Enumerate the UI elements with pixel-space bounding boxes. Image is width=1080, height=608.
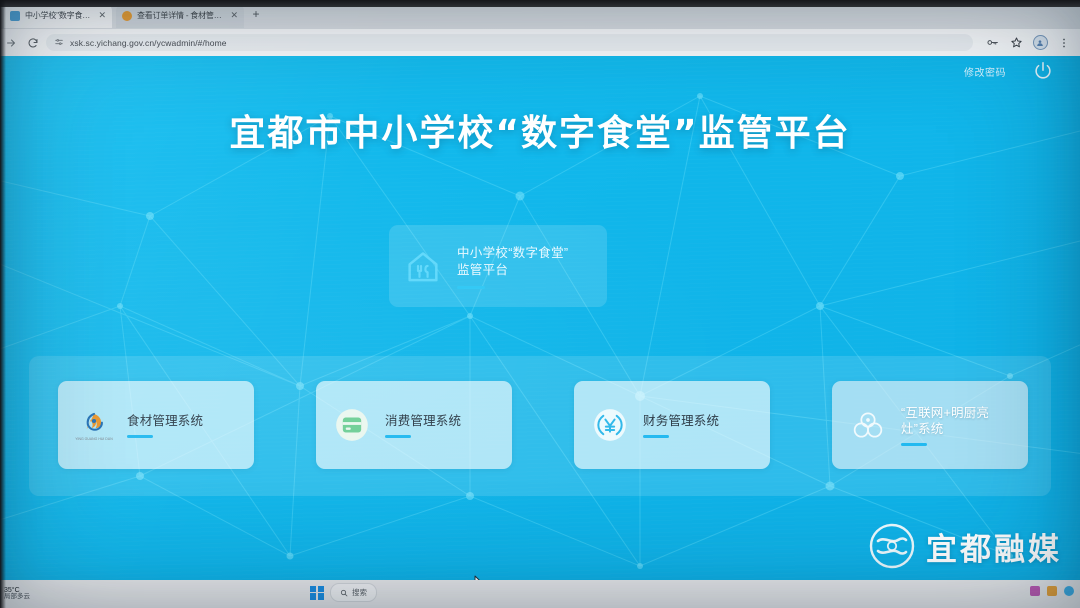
system-card-bright-kitchen[interactable]: “互联网+明厨亮灶”系统 bbox=[832, 381, 1028, 469]
page-topbar: 修改密码 bbox=[964, 60, 1054, 82]
system-card-consumption[interactable]: 消费管理系统 bbox=[316, 381, 512, 469]
power-icon[interactable] bbox=[1032, 60, 1054, 82]
main-platform-card[interactable]: 中小学校“数字食堂” 监管平台 bbox=[389, 225, 607, 307]
taskbar-center-group: 搜索 bbox=[310, 583, 377, 602]
svg-text:YING GUANG HUI DUN: YING GUANG HUI DUN bbox=[75, 437, 113, 441]
photographed-monitor: 中小学校"数字食堂"监管平台 ✕ 查看订单详情 - 食材管理系统 ✕ + xs bbox=[0, 0, 1080, 608]
site-settings-tune-icon[interactable] bbox=[54, 34, 64, 52]
ingredient-logo-icon: YING GUANG HUI DUN bbox=[74, 405, 114, 445]
windows-logo-icon[interactable] bbox=[310, 586, 324, 600]
system-card-text: 食材管理系统 bbox=[127, 412, 203, 438]
search-icon bbox=[340, 589, 348, 597]
address-bar-url: xsk.sc.yichang.gov.cn/ycwadmin/#/home bbox=[70, 38, 227, 48]
tab-favicon-orange-dot-icon bbox=[122, 11, 132, 21]
system-card-text: “互联网+明厨亮灶”系统 bbox=[901, 404, 1005, 446]
reload-icon[interactable] bbox=[22, 32, 44, 54]
key-icon[interactable] bbox=[981, 32, 1003, 54]
monitor-bezel-left bbox=[0, 0, 6, 608]
credit-card-icon bbox=[332, 405, 372, 445]
star-icon[interactable] bbox=[1005, 32, 1027, 54]
tab-close-icon[interactable]: ✕ bbox=[98, 11, 106, 20]
new-tab-button[interactable]: + bbox=[248, 6, 264, 22]
system-card-text: 财务管理系统 bbox=[643, 412, 719, 438]
taskbar-search-placeholder: 搜索 bbox=[352, 587, 367, 598]
three-dots-icon[interactable] bbox=[1053, 32, 1075, 54]
system-card-ingredient[interactable]: YING GUANG HUI DUN 食材管理系统 bbox=[58, 381, 254, 469]
watermark-text: 宜都融媒 bbox=[926, 524, 1062, 569]
system-card-accent-rule bbox=[385, 435, 411, 438]
page-title: 宜都市中小学校“数字食堂”监管平台 bbox=[0, 104, 1080, 156]
main-card-line1: 中小学校“数字食堂” bbox=[457, 245, 568, 262]
house-utensils-icon bbox=[403, 246, 443, 286]
yidu-media-emblem-icon bbox=[868, 522, 916, 570]
tab-favicon-shield-icon bbox=[10, 11, 20, 21]
system-card-finance[interactable]: 财务管理系统 bbox=[574, 381, 770, 469]
system-card-label: “互联网+明厨亮灶”系统 bbox=[901, 405, 1005, 437]
system-card-accent-rule bbox=[643, 435, 669, 438]
watermark-logo: 宜都融媒 bbox=[868, 522, 1062, 570]
three-circles-icon bbox=[848, 405, 888, 445]
tray-app-icon[interactable] bbox=[1047, 586, 1057, 596]
address-bar[interactable]: xsk.sc.yichang.gov.cn/ycwadmin/#/home bbox=[46, 34, 973, 51]
browser-toolbar: xsk.sc.yichang.gov.cn/ycwadmin/#/home bbox=[0, 29, 1080, 56]
yuan-circle-icon bbox=[590, 405, 630, 445]
change-password-link[interactable]: 修改密码 bbox=[964, 64, 1006, 79]
taskbar-search-box[interactable]: 搜索 bbox=[330, 583, 377, 602]
system-card-accent-rule bbox=[901, 443, 927, 446]
main-card-line2: 监管平台 bbox=[457, 262, 568, 279]
system-cards-list: YING GUANG HUI DUN 食材管理系统 bbox=[58, 381, 1028, 473]
toolbar-actions bbox=[981, 32, 1080, 54]
weather-description: 局部多云 bbox=[4, 594, 30, 601]
windows-taskbar: 35°C 局部多云 搜索 bbox=[0, 580, 1080, 608]
tray-app-icon[interactable] bbox=[1030, 586, 1040, 596]
system-card-accent-rule bbox=[127, 435, 153, 438]
system-card-label: 消费管理系统 bbox=[385, 413, 461, 429]
account-icon[interactable] bbox=[1029, 32, 1051, 54]
monitor-bezel-top bbox=[0, 0, 1080, 7]
taskbar-tray bbox=[1030, 586, 1074, 596]
system-card-text: 消费管理系统 bbox=[385, 412, 461, 438]
main-card-accent-rule bbox=[457, 286, 485, 289]
system-card-label: 财务管理系统 bbox=[643, 413, 719, 429]
system-card-label: 食材管理系统 bbox=[127, 413, 203, 429]
screenshot-root: 中小学校"数字食堂"监管平台 ✕ 查看订单详情 - 食材管理系统 ✕ + xs bbox=[0, 0, 1080, 608]
main-card-text: 中小学校“数字食堂” 监管平台 bbox=[457, 243, 568, 289]
web-page: 修改密码 宜都市中小学校“数字食堂”监管平台 中小学校“数字食堂” 监管平台 bbox=[0, 56, 1080, 580]
tray-app-icon[interactable] bbox=[1064, 586, 1074, 596]
browser-chrome: 中小学校"数字食堂"监管平台 ✕ 查看订单详情 - 食材管理系统 ✕ + xs bbox=[0, 0, 1080, 56]
tab-title: 查看订单详情 - 食材管理系统 bbox=[137, 10, 225, 21]
tab-close-icon[interactable]: ✕ bbox=[230, 11, 238, 20]
tab-title: 中小学校"数字食堂"监管平台 bbox=[25, 10, 93, 21]
